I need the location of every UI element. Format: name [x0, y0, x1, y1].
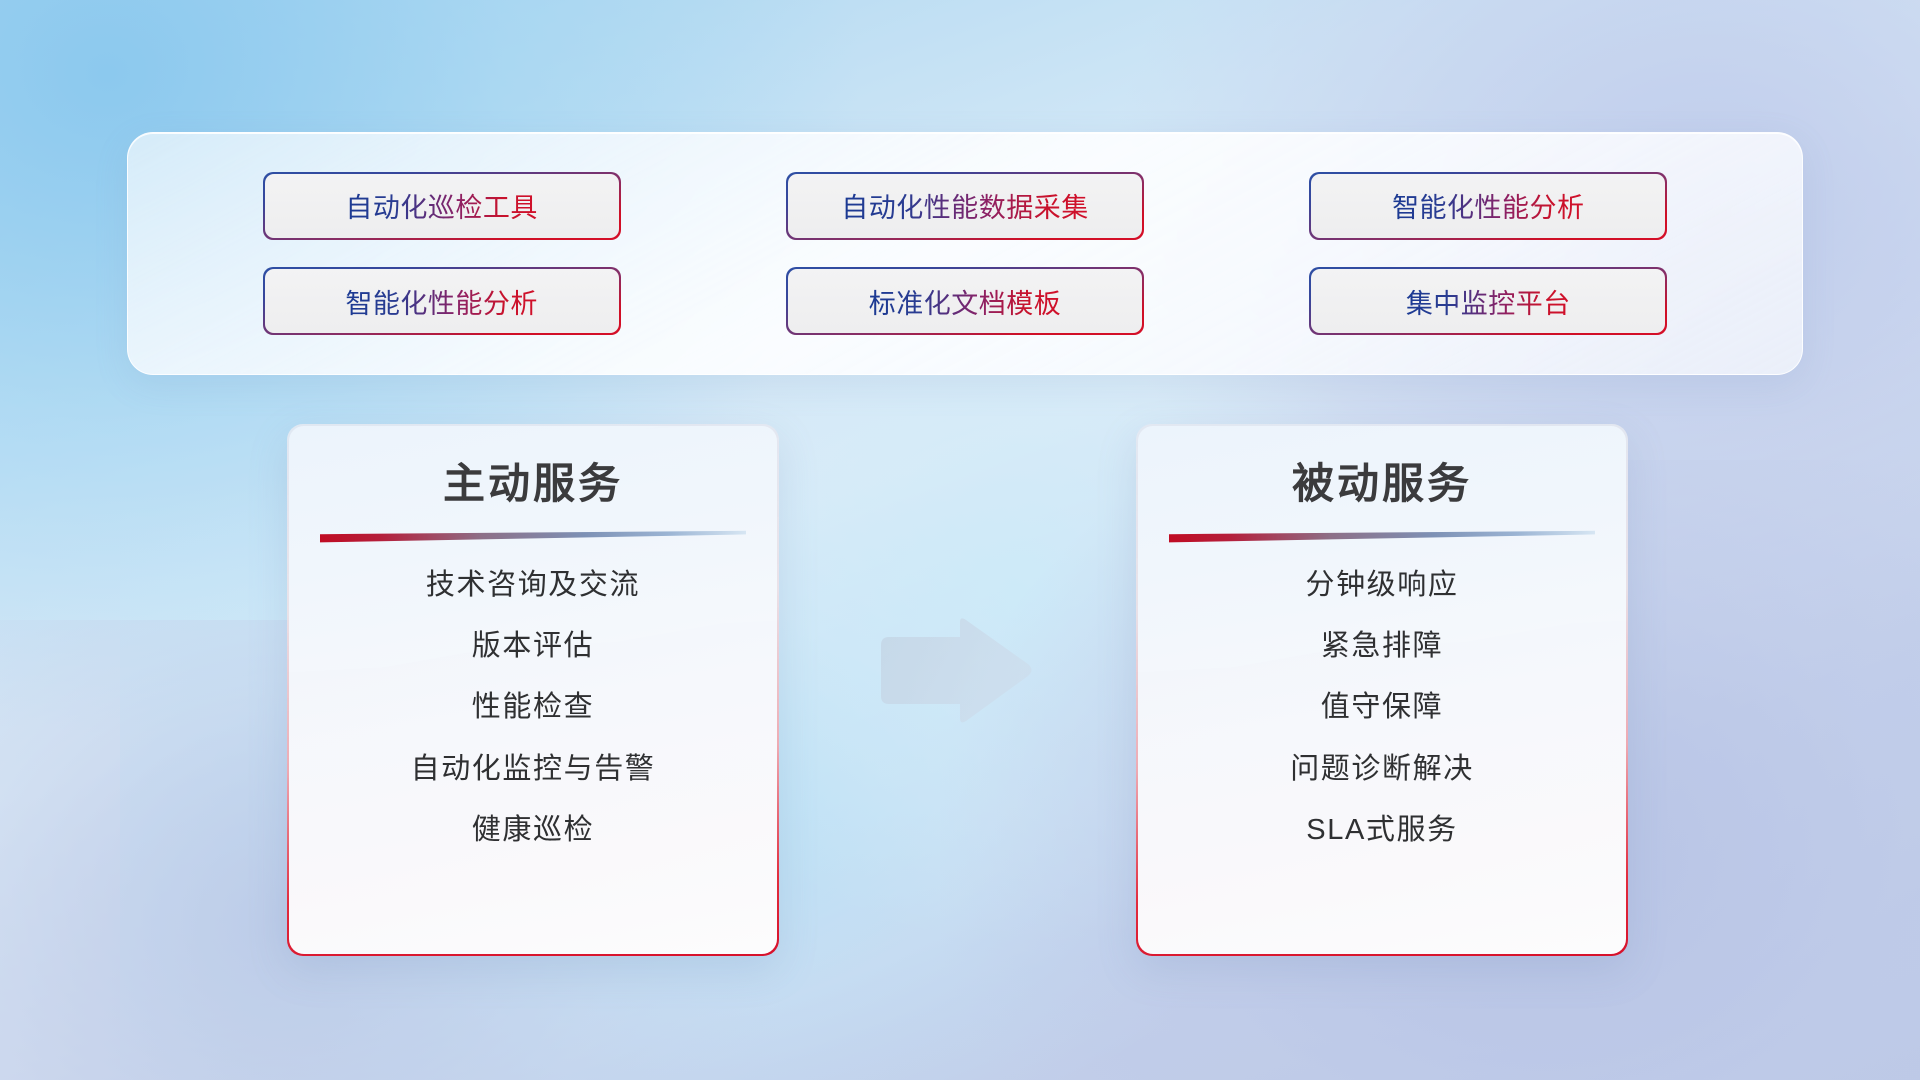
capability-pill-2-inner: 自动化性能数据采集 — [788, 174, 1142, 238]
capability-pill-4-inner: 智能化性能分析 — [265, 269, 619, 333]
capability-pill-2-label: 自动化性能数据采集 — [841, 186, 1089, 225]
list-item: 健康巡检 — [472, 812, 594, 848]
service-card-proactive-list: 技术咨询及交流 版本评估 性能检查 自动化监控与告警 健康巡检 — [289, 567, 778, 848]
capability-pill-1-label: 自动化巡检工具 — [345, 186, 538, 225]
capability-pill-4[interactable]: 智能化性能分析 — [263, 267, 621, 335]
capability-pill-5-inner: 标准化文档模板 — [788, 269, 1142, 333]
capabilities-panel: 自动化巡检工具 自动化性能数据采集 智能化性能分析 智能化性能分析 标准化文档模… — [127, 132, 1803, 375]
service-card-proactive-title: 主动服务 — [443, 461, 623, 507]
list-item: SLA式服务 — [1306, 812, 1457, 848]
capability-pill-2[interactable]: 自动化性能数据采集 — [786, 172, 1144, 240]
service-card-reactive-list: 分钟级响应 紧急排障 值守保障 问题诊断解决 SLA式服务 — [1138, 567, 1627, 848]
capability-pill-1[interactable]: 自动化巡检工具 — [263, 172, 621, 240]
title-divider-accent — [1169, 530, 1595, 543]
list-item: 值守保障 — [1321, 689, 1443, 725]
capability-pill-6-label: 集中监控平台 — [1406, 282, 1571, 321]
service-card-proactive-body: 主动服务 技术咨询及交流 版本评估 性能检查 — [289, 426, 778, 955]
service-card-proactive[interactable]: 主动服务 技术咨询及交流 版本评估 性能检查 — [287, 424, 779, 956]
capability-pill-3-inner: 智能化性能分析 — [1311, 174, 1665, 238]
list-item: 紧急排障 — [1321, 628, 1443, 664]
service-card-reactive-title: 被动服务 — [1292, 461, 1472, 507]
list-item: 自动化监控与告警 — [411, 751, 656, 787]
capability-pill-4-label: 智能化性能分析 — [345, 282, 538, 321]
capabilities-grid: 自动化巡检工具 自动化性能数据采集 智能化性能分析 智能化性能分析 标准化文档模… — [128, 133, 1802, 374]
service-card-reactive-body: 被动服务 分钟级响应 紧急排障 值守保障 — [1138, 426, 1627, 955]
title-divider-accent — [320, 530, 746, 543]
list-item: 版本评估 — [472, 628, 594, 664]
capability-pill-3[interactable]: 智能化性能分析 — [1309, 172, 1667, 240]
arrow-right-icon — [872, 616, 1033, 726]
capability-pill-1-inner: 自动化巡检工具 — [265, 174, 619, 238]
service-card-reactive[interactable]: 被动服务 分钟级响应 紧急排障 值守保障 — [1136, 424, 1628, 956]
list-item: 技术咨询及交流 — [426, 567, 640, 603]
capability-pill-3-label: 智能化性能分析 — [1392, 186, 1585, 225]
capability-pill-6-inner: 集中监控平台 — [1311, 269, 1665, 333]
capability-pill-6[interactable]: 集中监控平台 — [1309, 267, 1667, 335]
list-item: 分钟级响应 — [1305, 567, 1458, 603]
capability-pill-5-label: 标准化文档模板 — [869, 282, 1062, 321]
list-item: 问题诊断解决 — [1290, 751, 1474, 787]
capability-pill-5[interactable]: 标准化文档模板 — [786, 267, 1144, 335]
list-item: 性能检查 — [472, 689, 594, 725]
